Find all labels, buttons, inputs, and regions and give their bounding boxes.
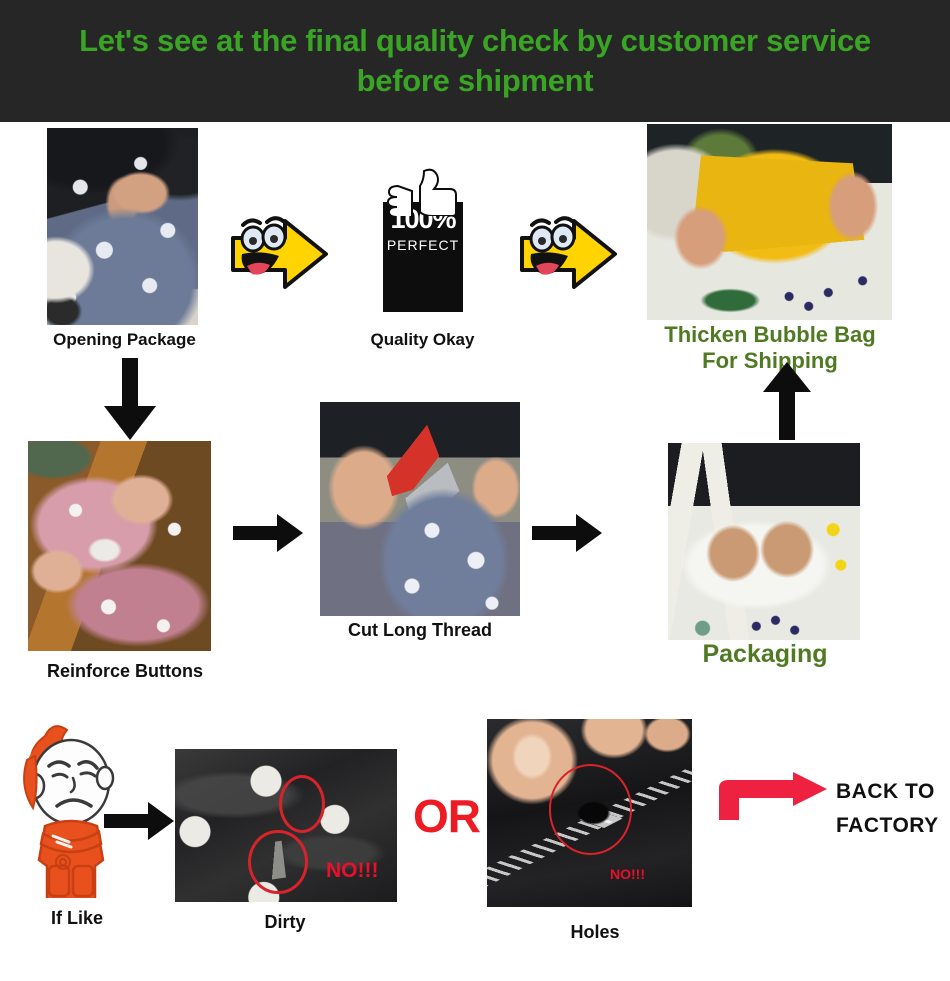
header-banner: Let's see at the final quality check by …	[0, 0, 950, 122]
black-right-arrow-icon-3	[104, 800, 176, 842]
label-dirty: Dirty	[200, 912, 370, 932]
label-if-like: If Like	[12, 908, 142, 928]
photo-dirty: NO!!!	[175, 749, 397, 902]
label-back-to-factory: BACK TO FACTORY	[836, 775, 950, 843]
smiley-right-arrow-icon-2	[516, 212, 620, 296]
no-overlay-dirty: NO!!!	[326, 859, 378, 883]
photo-thicken-bubble-bag	[647, 124, 892, 320]
label-holes: Holes	[510, 922, 680, 942]
defect-marker-dirty-2	[248, 830, 307, 894]
bent-right-arrow-icon	[715, 772, 830, 822]
photo-packaging	[668, 443, 860, 640]
label-reinforce-buttons: Reinforce Buttons	[5, 661, 245, 681]
no-overlay-holes: NO!!!	[610, 866, 645, 882]
photo-cut-long-thread	[320, 402, 520, 616]
black-right-arrow-icon-2	[532, 512, 604, 554]
infographic-root: Let's see at the final quality check by …	[0, 0, 950, 981]
badge-100-percent-perfect: 100% PERFECT	[383, 202, 463, 312]
defect-marker-dirty-1	[279, 775, 325, 833]
label-cut-long-thread: Cut Long Thread	[300, 620, 540, 640]
page-title: Let's see at the final quality check by …	[35, 21, 915, 101]
label-quality-okay: Quality Okay	[330, 330, 515, 349]
defect-marker-hole	[549, 764, 633, 854]
smiley-right-arrow-icon-1	[227, 212, 331, 296]
thumbs-up-icon	[384, 168, 462, 216]
photo-holes: NO!!!	[487, 719, 692, 907]
or-divider: OR	[413, 789, 480, 843]
photo-reinforce-buttons	[28, 441, 211, 651]
badge-subtitle: PERFECT	[387, 237, 459, 253]
photo-opening-package	[47, 128, 198, 325]
label-opening-package: Opening Package	[12, 330, 237, 349]
black-up-arrow-icon	[761, 362, 813, 440]
label-packaging: Packaging	[655, 640, 875, 668]
black-right-arrow-icon-1	[233, 512, 305, 554]
black-down-arrow-icon	[100, 358, 160, 442]
